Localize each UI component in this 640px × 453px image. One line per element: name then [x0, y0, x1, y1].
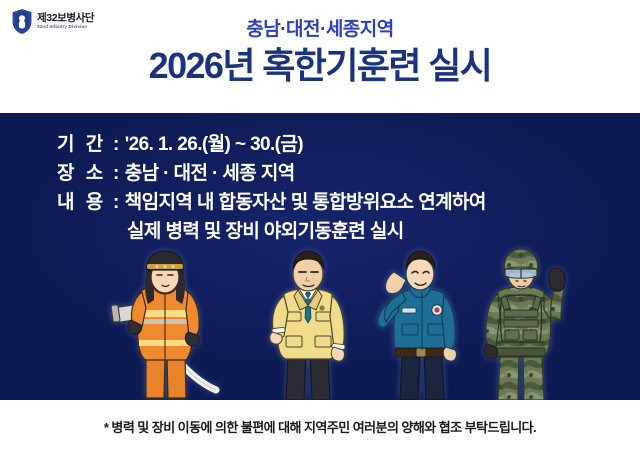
info-value-location: 충남 · 대전 · 세종 지역: [125, 160, 295, 189]
title-block: 충남·대전·세종지역 2026년 혹한기훈련 실시: [0, 20, 640, 86]
info-label-location: 장 소: [57, 160, 113, 189]
info-colon-period: :: [113, 131, 119, 160]
info-panel: 기 간 : '26. 1. 26.(월) ~ 30.(금) 장 소 : 충남 ·…: [0, 113, 640, 400]
poster-subtitle: 충남·대전·세종지역: [0, 20, 640, 41]
figure-government-official: [248, 250, 368, 400]
figure-soldier: [460, 248, 580, 400]
figure-police-officer: [358, 250, 476, 400]
info-colon-content: :: [113, 189, 119, 218]
footer-note: * 병력 및 장비 이동에 의한 불편에 대해 지역주민 여러분의 양해와 협조…: [104, 417, 536, 436]
info-value-period: '26. 1. 26.(월) ~ 30.(금): [125, 131, 303, 160]
poster-footer: * 병력 및 장비 이동에 의한 불편에 대해 지역주민 여러분의 양해와 협조…: [0, 400, 640, 453]
figure-firefighter: [98, 248, 243, 400]
figure-group: [0, 240, 640, 400]
info-value-content: 책임지역 내 합동자산 및 통합방위요소 연계하여: [125, 189, 486, 218]
info-colon-location: :: [113, 160, 119, 189]
info-label-period: 기 간: [57, 131, 113, 160]
poster-header: 제32보병사단 32nd Infantry Division 충남·대전·세종지…: [0, 0, 640, 113]
info-row-location: 장 소 : 충남 · 대전 · 세종 지역: [57, 160, 486, 189]
info-list: 기 간 : '26. 1. 26.(월) ~ 30.(금) 장 소 : 충남 ·…: [57, 131, 486, 247]
poster-title: 2026년 혹한기훈련 실시: [0, 45, 640, 86]
info-label-content: 내 용: [57, 189, 113, 218]
poster-root: 제32보병사단 32nd Infantry Division 충남·대전·세종지…: [0, 0, 640, 453]
info-row-content: 내 용 : 책임지역 내 합동자산 및 통합방위요소 연계하여: [57, 189, 486, 218]
info-row-period: 기 간 : '26. 1. 26.(월) ~ 30.(금): [57, 131, 486, 160]
